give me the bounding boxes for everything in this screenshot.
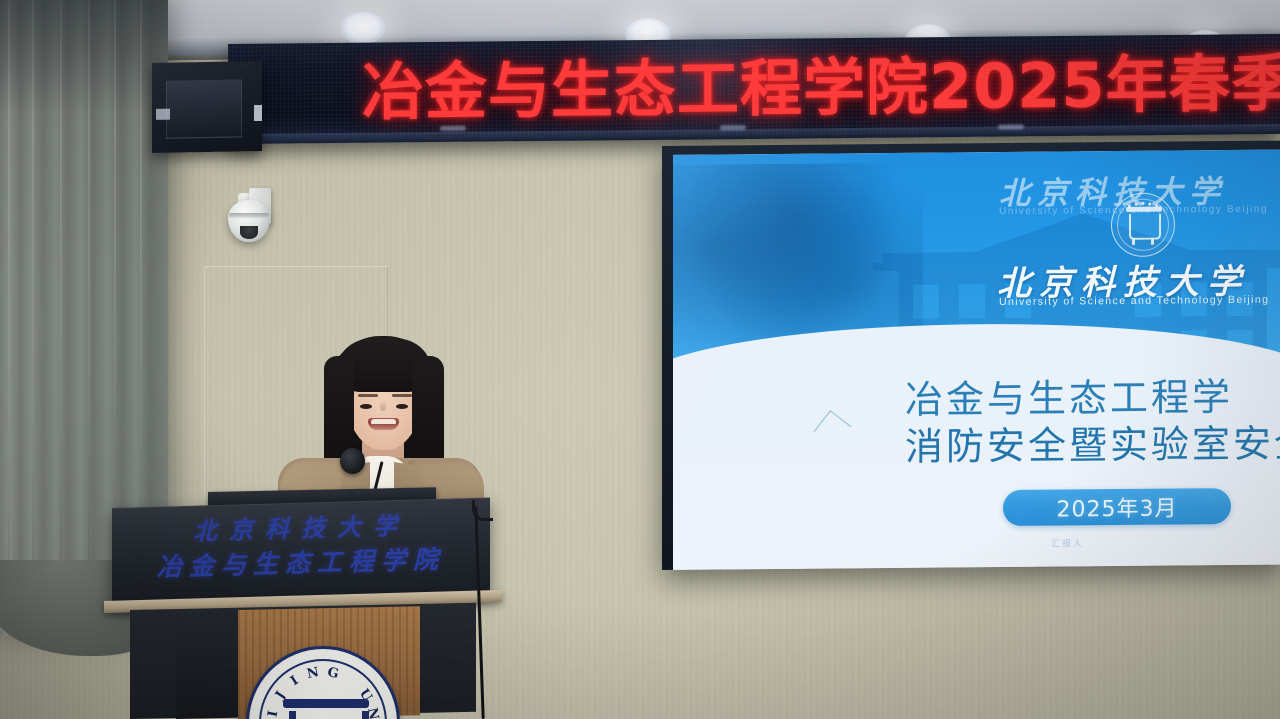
projection-screen: 北京科技大学 University of Science and Technol… [673, 150, 1280, 570]
seal-ring-char: U [356, 687, 375, 705]
slide-title: 冶金与生态工程学 消防安全暨实验室安全 [905, 373, 1280, 471]
projector-speaker-box-icon [152, 61, 262, 153]
presenter-nose [380, 400, 386, 411]
presenter-eye-left [360, 404, 372, 409]
banner-reflection [998, 124, 1024, 129]
ceiling-downlight [340, 12, 386, 44]
banner-reflection [440, 126, 466, 131]
wall-switch-plate [254, 105, 262, 121]
banner-reflection [720, 125, 746, 130]
camera-lens [240, 226, 258, 239]
seal-ring-char: I [288, 673, 301, 689]
seal-ring-char: G [326, 665, 340, 682]
projection-screen-frame: 北京科技大学 University of Science and Technol… [662, 141, 1280, 570]
presenter-brow-left [358, 394, 378, 397]
seal-legs [1129, 238, 1157, 245]
presenter-teeth [371, 419, 396, 424]
presenter-brow-right [392, 394, 412, 397]
led-banner-text: 冶金与生态工程学院2025年春季消防 [362, 41, 1280, 135]
camera-band [229, 213, 269, 218]
seal-ring-char: J [273, 689, 289, 702]
seal-stars [1126, 202, 1160, 210]
seal-ring-text: BEIJING UNIV [249, 649, 397, 719]
podium-side-left [176, 611, 240, 719]
seal-vessel [1129, 214, 1161, 240]
presenter-eye-right [396, 404, 408, 409]
curtain-top-shadow [0, 0, 168, 116]
university-seal-icon [1111, 193, 1175, 258]
slide-title-line2: 消防安全暨实验室安全 [905, 420, 1280, 471]
podium-front-panel: 北京科技大学 冶金与生态工程学院 [112, 497, 490, 606]
lecture-hall-photo: 冶金与生态工程学院2025年春季消防 [0, 0, 1280, 719]
av-box-indicator [156, 109, 170, 120]
av-box-face [166, 79, 242, 138]
slide-watermark: 汇报人 [1051, 536, 1084, 549]
university-logo: 北京科技大学 University of Science and Technol… [991, 166, 1280, 305]
seal-ring-char: N [364, 707, 381, 719]
university-seal-icon: BEIJING UNIV [246, 646, 400, 719]
slide-title-line1: 冶金与生态工程学 [905, 373, 1280, 424]
slide-date-text: 2025年3月 [1057, 491, 1178, 524]
logo-en-main: University of Science and Technology Bei… [999, 294, 1269, 308]
seal-ring-char: N [306, 665, 321, 682]
seal-vessel [289, 711, 369, 719]
seal-ring-char: I [265, 709, 281, 718]
slide-date-badge: 2025年3月 [1003, 488, 1231, 526]
led-banner: 冶金与生态工程学院2025年春季消防 [228, 34, 1280, 144]
gooseneck-microphone-icon [340, 448, 365, 474]
podium-inscription: 北京科技大学 冶金与生态工程学院 [112, 507, 490, 584]
